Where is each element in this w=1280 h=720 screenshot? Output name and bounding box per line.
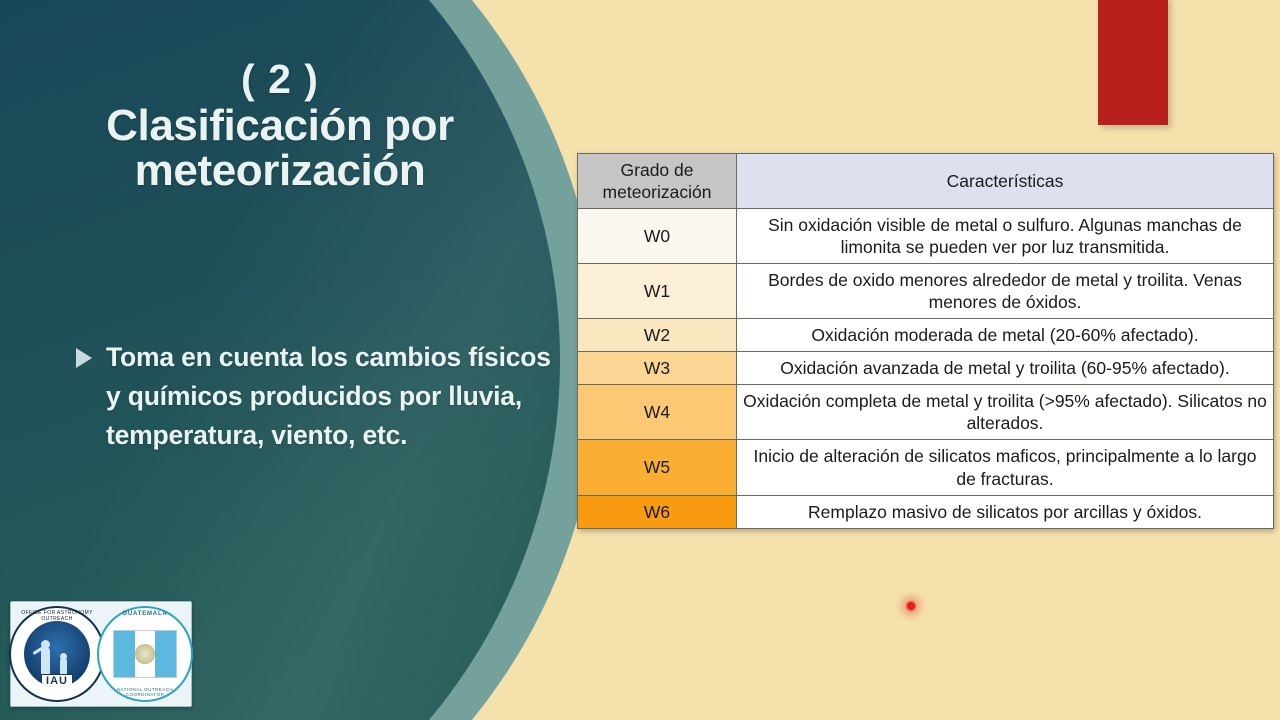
description-cell: Oxidación avanzada de metal y troilita (… <box>737 352 1274 385</box>
grade-cell: W0 <box>578 209 737 264</box>
table-row: W3Oxidación avanzada de metal y troilita… <box>578 352 1274 385</box>
iau-figure-child-head <box>60 653 67 660</box>
table-row: W2Oxidación moderada de metal (20-60% af… <box>578 319 1274 352</box>
table-body: W0Sin oxidación visible de metal o sulfu… <box>578 209 1274 529</box>
page-title: ( 2 ) Clasificación por meteorización <box>20 58 540 194</box>
flag-stripe-right <box>155 631 176 677</box>
guatemala-ring-text-bottom: NATIONAL OUTREACH COORDINATOR <box>99 687 191 697</box>
laser-pointer-dot <box>905 600 917 612</box>
weathering-grade-table: Grado de meteorización Características W… <box>577 153 1274 529</box>
table-header-row: Grado de meteorización Características <box>578 154 1274 209</box>
grade-cell: W1 <box>578 264 737 319</box>
grade-cell: W3 <box>578 352 737 385</box>
table-row: W5Inicio de alteración de silicatos mafi… <box>578 440 1274 495</box>
slide-canvas: ( 2 ) Clasificación por meteorización To… <box>0 0 1280 720</box>
column-header-characteristics: Características <box>737 154 1274 209</box>
description-cell: Oxidación completa de metal y troilita (… <box>737 385 1274 440</box>
iau-wordmark: IAU <box>41 674 73 687</box>
flag-stripe-left <box>114 631 135 677</box>
triangle-bullet-icon <box>76 348 92 368</box>
description-cell: Inicio de alteración de silicatos mafico… <box>737 440 1274 495</box>
description-cell: Sin oxidación visible de metal o sulfuro… <box>737 209 1274 264</box>
guatemala-noc-logo-icon: GUATEMALA NATIONAL OUTREACH COORDINATOR <box>97 606 193 702</box>
grade-cell: W2 <box>578 319 737 352</box>
iau-outreach-logo-icon: OFFICE FOR ASTRONOMY OUTREACH IAU <box>9 606 105 702</box>
iau-logo-inner: IAU <box>24 621 90 687</box>
logo-group: OFFICE FOR ASTRONOMY OUTREACH IAU GUATEM… <box>10 601 192 707</box>
table-row: W1Bordes de oxido menores alrededor de m… <box>578 264 1274 319</box>
description-cell: Oxidación moderada de metal (20-60% afec… <box>737 319 1274 352</box>
guatemala-flag-icon <box>113 630 177 678</box>
bullet-text: Toma en cuenta los cambios físicos y quí… <box>106 338 556 455</box>
grade-cell: W5 <box>578 440 737 495</box>
table-row: W4Oxidación completa de metal y troilita… <box>578 385 1274 440</box>
description-cell: Bordes de oxido menores alrededor de met… <box>737 264 1274 319</box>
guatemala-ring-text-top: GUATEMALA <box>99 611 191 617</box>
title-main: Clasificación por meteorización <box>20 103 540 195</box>
title-number: ( 2 ) <box>20 58 540 101</box>
flag-stripe-center <box>135 631 156 677</box>
grade-cell: W6 <box>578 495 737 528</box>
iau-figure-adult <box>41 647 50 677</box>
bullet-item: Toma en cuenta los cambios físicos y quí… <box>76 338 556 455</box>
table-row: W0Sin oxidación visible de metal o sulfu… <box>578 209 1274 264</box>
column-header-grade: Grado de meteorización <box>578 154 737 209</box>
description-cell: Remplazo masivo de silicatos por arcilla… <box>737 495 1274 528</box>
guatemala-crest-icon <box>135 644 155 664</box>
weathering-table-wrapper: Grado de meteorización Características W… <box>577 153 1273 529</box>
table-row: W6Remplazo masivo de silicatos por arcil… <box>578 495 1274 528</box>
red-accent-rectangle <box>1098 0 1168 125</box>
grade-cell: W4 <box>578 385 737 440</box>
